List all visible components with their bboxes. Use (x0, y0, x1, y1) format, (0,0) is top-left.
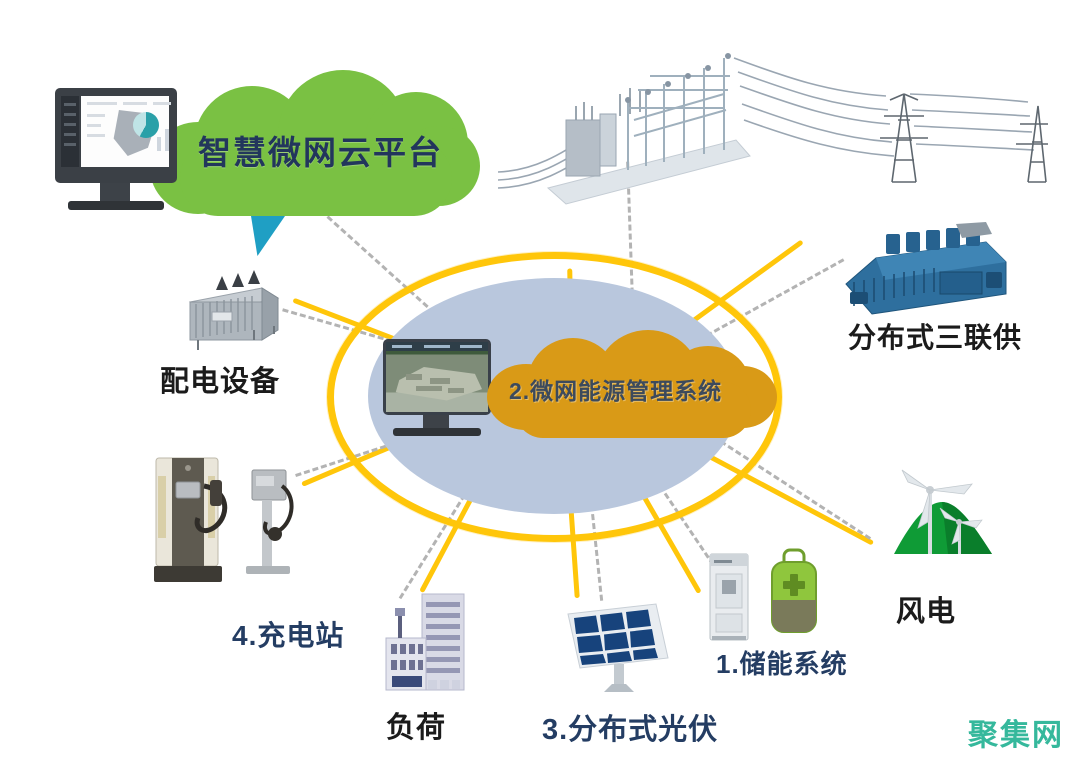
watermark: 聚集网 (968, 710, 1064, 754)
node-label-cchp: 分布式三联供 (848, 316, 1022, 356)
node-label-charging: 4.充电站 (232, 614, 344, 654)
node-label-storage: 1.储能系统 (716, 644, 848, 681)
wind-turbine-icon (888, 468, 998, 568)
platform-cloud-shape[interactable]: 智慧微网云平台 (150, 70, 480, 230)
transformer-icon (176, 268, 286, 360)
node-label-load: 负荷 (386, 704, 446, 746)
platform-monitor-base (68, 201, 164, 210)
ems-cloud-shape: 2.微网能源管理系统 (487, 330, 777, 450)
ems-monitor-icon (383, 339, 491, 415)
ems-monitor-base (393, 428, 481, 436)
ems-monitor-neck (423, 415, 449, 429)
center-node-label: 2.微网能源管理系统 (509, 372, 722, 406)
ev-charger-icon (142, 442, 312, 587)
node-label-distribution: 配电设备 (160, 358, 280, 400)
node-label-wind: 风电 (896, 588, 956, 630)
substation-transmission-tower-icon (488, 20, 1048, 205)
diagram-canvas: 2.微网能源管理系统 智慧微网云平台 (0, 0, 1080, 764)
node-label-pv: 3.分布式光伏 (542, 706, 718, 748)
battery-cabinet-icon (700, 548, 830, 644)
platform-monitor-icon (55, 88, 177, 183)
platform-label: 智慧微网云平台 (198, 126, 443, 174)
platform-monitor-neck (100, 183, 130, 203)
buildings-icon (378, 586, 488, 696)
gas-generator-icon (836, 222, 1016, 322)
solar-panel-icon (556, 586, 676, 696)
